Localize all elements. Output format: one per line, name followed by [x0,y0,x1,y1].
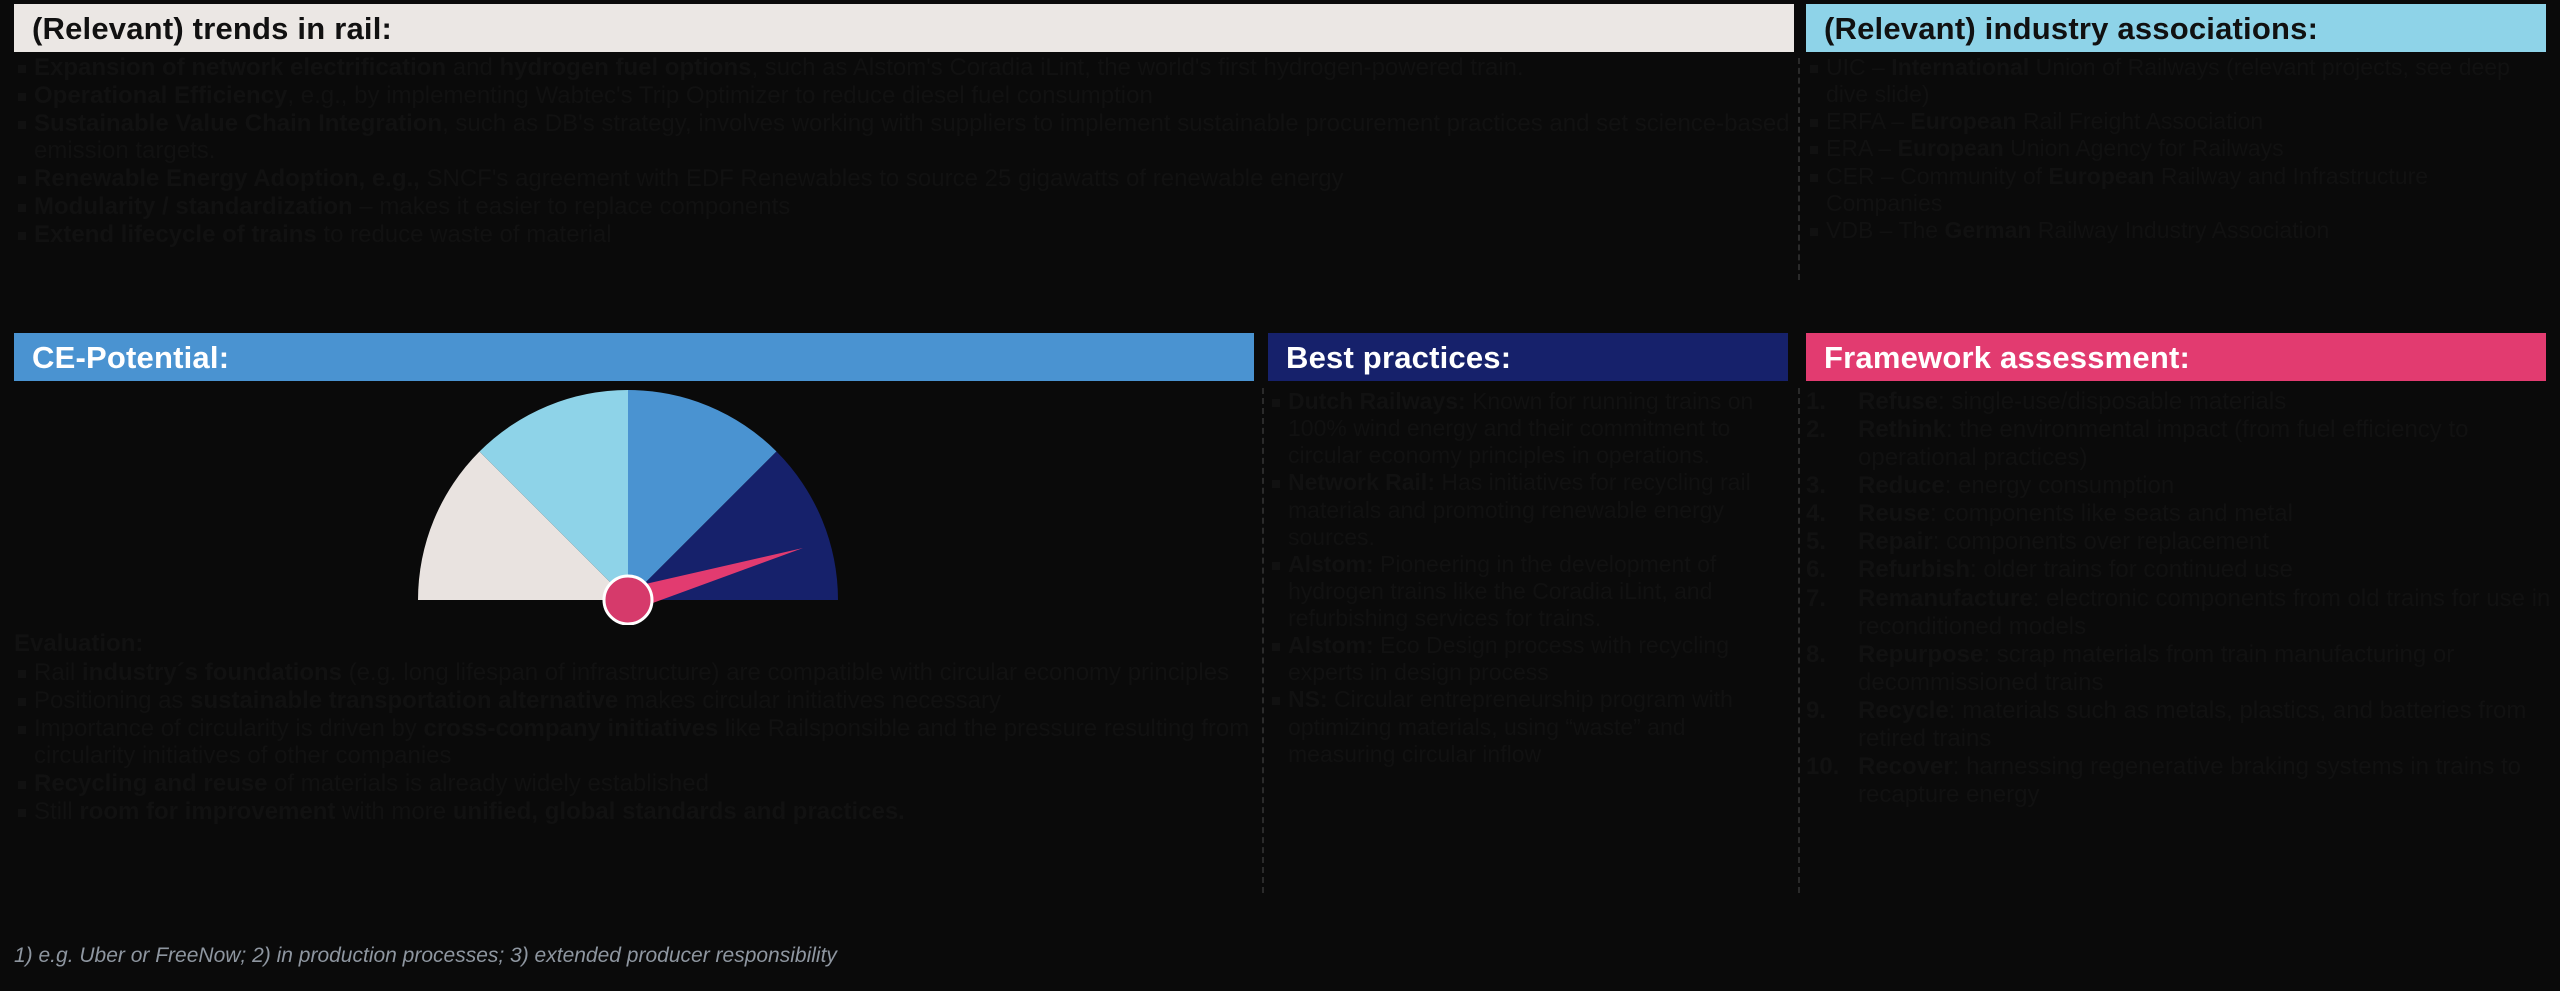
emphasis-text: cross-company initiatives [423,715,718,742]
emphasis-text: International [1891,54,2029,80]
best-practices-section: Dutch Railways: Known for running trains… [1268,388,1792,768]
framework-item-number: 9. [1806,697,1854,725]
list-item: UIC – International Union of Railways (r… [1806,54,2546,108]
emphasis-text: unified, global standards and practices. [453,798,905,825]
emphasis-text: Alstom: [1288,632,1374,658]
body-text: with more [335,798,452,825]
emphasis-text: room for improvement [79,798,335,825]
framework-list-item: 10.Recover: harnessing regenerative brak… [1806,753,2556,809]
associations-list: UIC – International Union of Railways (r… [1806,54,2546,244]
emphasis-text: Refurbish [1858,556,1970,583]
framework-list-item: 6.Refurbish: older trains for continued … [1806,556,2556,584]
framework-item-number: 4. [1806,500,1854,528]
list-item: Alstom: Eco Design process with recyclin… [1268,632,1792,686]
framework-item-number: 8. [1806,641,1854,669]
trends-section: Expansion of network electrification and… [14,54,1794,249]
body-text: : the environmental impact (from fuel ef… [1858,416,2468,471]
evaluation-list: Rail industry´s foundations (e.g. long l… [14,659,1254,826]
emphasis-text: Expansion of network electrification [34,54,446,81]
divider-vertical-best [1262,388,1264,893]
body-text: Circular entrepreneurship program with o… [1288,686,1733,766]
best-practices-list: Dutch Railways: Known for running trains… [1268,388,1792,768]
body-text: Railway Industry Association [2031,217,2329,243]
body-text: Positioning as [34,687,190,714]
framework-item-number: 1. [1806,388,1854,416]
emphasis-text: Recover [1858,753,1953,780]
framework-item-number: 3. [1806,472,1854,500]
list-item: Renewable Energy Adoption, e.g., SNCF's … [14,165,1794,193]
emphasis-text: German [1944,217,2031,243]
list-item: CER – Community of European Railway and … [1806,163,2546,217]
banner-ce-potential: CE-Potential: [14,333,1254,381]
banner-framework-assessment: Framework assessment: [1806,333,2546,381]
body-text: VDB – The [1826,217,1944,243]
body-text: Still [34,798,79,825]
body-text: , e.g., by implementing Wabtec's Trip Op… [287,82,1152,109]
emphasis-text: Repair [1858,528,1933,555]
banner-best-practices-label: Best practices: [1286,342,1511,373]
emphasis-text: Dutch Railways: [1288,388,1466,414]
emphasis-text: European [1898,135,2004,161]
emphasis-text: industry´s foundations [82,659,342,686]
banner-associations-label: (Relevant) industry associations: [1824,13,2318,44]
emphasis-text: Repurpose [1858,641,1983,668]
emphasis-text: European [2048,163,2154,189]
framework-item-number: 2. [1806,416,1854,444]
list-item: ERFA – European Rail Freight Association [1806,108,2546,135]
trends-list: Expansion of network electrification and… [14,54,1794,249]
emphasis-text: Network Rail: [1288,469,1435,495]
framework-item-number: 10. [1806,753,1854,781]
emphasis-text: Recycling and reuse [34,770,267,797]
list-item: Network Rail: Has initiatives for recycl… [1268,469,1792,550]
banner-ce-potential-label: CE-Potential: [32,342,229,373]
body-text: : components over replacement [1933,528,2269,555]
emphasis-text: Modularity / standardization [34,193,353,220]
framework-list-item: 3.Reduce: energy consumption [1806,472,2556,500]
body-text: Rail [34,659,82,686]
ce-potential-gauge-chart [378,390,878,625]
body-text: ERFA – [1826,108,1910,134]
emphasis-text: Recycle [1858,697,1949,724]
framework-list-item: 4.Reuse: components like seats and metal [1806,500,2556,528]
list-item: Modularity / standardization – makes it … [14,193,1794,221]
framework-list-item: 1.Refuse: single-use/disposable material… [1806,388,2556,416]
list-item: Recycling and reuse of materials is alre… [14,770,1254,798]
evaluation-section: Evaluation: Rail industry´s foundations … [14,630,1254,826]
list-item: Expansion of network electrification and… [14,54,1794,82]
emphasis-text: Reduce [1858,472,1945,499]
emphasis-text: Sustainable Value Chain Integration [34,110,442,137]
list-item: Dutch Railways: Known for running trains… [1268,388,1792,469]
evaluation-title: Evaluation: [14,630,1254,658]
list-item: ERA – European Union Agency for Railways [1806,135,2546,162]
emphasis-text: European [1910,108,2016,134]
divider-vertical-framework [1798,388,1800,893]
banner-industry-associations: (Relevant) industry associations: [1806,4,2546,52]
associations-section: UIC – International Union of Railways (r… [1806,54,2546,244]
banner-trends-in-rail: (Relevant) trends in rail: [14,4,1794,52]
list-item: Rail industry´s foundations (e.g. long l… [14,659,1254,687]
body-text: – makes it easier to replace components [353,193,791,220]
body-text: : older trains for continued use [1970,556,2293,583]
body-text: of materials is already widely establish… [267,770,709,797]
framework-item-number: 5. [1806,528,1854,556]
body-text: , such as Alstom's Coradia iLint, the wo… [751,54,1523,81]
banner-best-practices: Best practices: [1268,333,1788,381]
footnote: 1) e.g. Uber or FreeNow; 2) in productio… [14,944,837,968]
banner-trends-label: (Relevant) trends in rail: [32,13,392,44]
framework-list-item: 8.Repurpose: scrap materials from train … [1806,641,2556,697]
body-text: CER – Community of [1826,163,2048,189]
body-text: Union Agency for Railways [2004,135,2284,161]
banner-framework-label: Framework assessment: [1824,342,2190,373]
body-text: : energy consumption [1945,472,2174,499]
framework-item-number: 7. [1806,585,1854,613]
slide-canvas: (Relevant) trends in rail: (Relevant) in… [0,0,2560,991]
body-text: (e.g. long lifespan of infrastructure) a… [342,659,1229,686]
emphasis-text: Alstom: [1288,551,1374,577]
emphasis-text: hydrogen fuel options [499,54,751,81]
framework-assessment-section: 1.Refuse: single-use/disposable material… [1806,388,2556,809]
body-text: UIC – [1826,54,1891,80]
body-text: : single-use/disposable materials [1938,388,2286,415]
body-text: SNCF's agreement with EDF Renewables to … [420,165,1344,192]
emphasis-text: NS: [1288,686,1328,712]
emphasis-text: Extend lifecycle of trains [34,221,317,248]
list-item: VDB – The German Railway Industry Associ… [1806,217,2546,244]
list-item: Operational Efficiency, e.g., by impleme… [14,82,1794,110]
gauge-needle-hub [604,576,652,624]
body-text: : components like seats and metal [1930,500,2293,527]
framework-list-item: 9.Recycle: materials such as metals, pla… [1806,697,2556,753]
body-text: ERA – [1826,135,1898,161]
body-text: to reduce waste of material [317,221,612,248]
framework-assessment-list: 1.Refuse: single-use/disposable material… [1806,388,2556,809]
list-item: NS: Circular entrepreneurship program wi… [1268,686,1792,767]
emphasis-text: Reuse [1858,500,1930,527]
list-item: Positioning as sustainable transportatio… [14,687,1254,715]
body-text: Importance of circularity is driven by [34,715,423,742]
body-text: Rail Freight Association [2016,108,2263,134]
framework-list-item: 5.Repair: components over replacement [1806,528,2556,556]
emphasis-text: Remanufacture [1858,585,2033,612]
gauge-svg [378,390,878,625]
emphasis-text: Refuse [1858,388,1938,415]
body-text: makes circular initiatives necessary [618,687,1001,714]
list-item: Importance of circularity is driven by c… [14,715,1254,771]
emphasis-text: Renewable Energy Adoption, e.g., [34,165,420,192]
emphasis-text: Operational Efficiency [34,82,287,109]
framework-list-item: 2.Rethink: the environmental impact (fro… [1806,416,2556,472]
list-item: Alstom: Pioneering in the development of… [1268,551,1792,632]
emphasis-text: Rethink [1858,416,1946,443]
framework-list-item: 7.Remanufacture: electronic components f… [1806,585,2556,641]
framework-item-number: 6. [1806,556,1854,584]
list-item: Sustainable Value Chain Integration, suc… [14,110,1794,166]
emphasis-text: sustainable transportation alternative [190,687,618,714]
body-text: : materials such as metals, plastics, an… [1858,697,2526,752]
list-item: Still room for improvement with more uni… [14,798,1254,826]
body-text: and [446,54,499,81]
list-item: Extend lifecycle of trains to reduce was… [14,221,1794,249]
divider-vertical-top [1798,58,1800,280]
body-text: : harnessing regenerative braking system… [1858,753,2521,808]
